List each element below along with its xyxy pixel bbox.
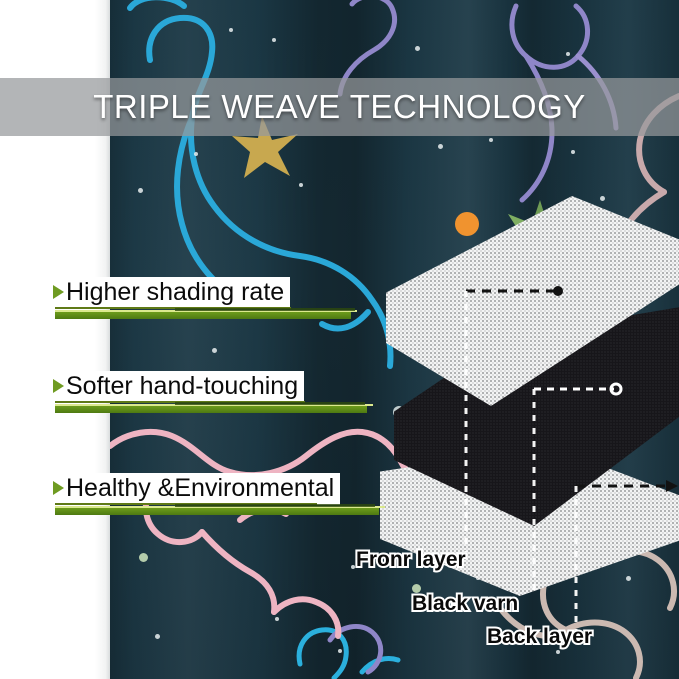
feature-softer-hand-touching: Softer hand-touching <box>50 371 304 403</box>
feature-label-box: Healthy &Environmental <box>50 473 340 505</box>
layer-label-black-varn-text: Black varn <box>412 592 518 615</box>
green-triangle-icon <box>53 481 64 495</box>
header-banner: TRIPLE WEAVE TECHNOLOGY <box>0 78 679 136</box>
layer-label-back-text: Back layer <box>487 625 592 648</box>
feature-healthy-environmental: Healthy &Environmental <box>50 473 340 505</box>
feature-label-box: Softer hand-touching <box>50 371 304 403</box>
layer-label-black-varn: Black varn <box>412 592 518 616</box>
layer-label-front: Fronr layer <box>356 548 466 572</box>
fabric-layer-diagram <box>386 196 679 576</box>
layer-label-front-text: Fronr layer <box>356 548 466 571</box>
green-triangle-icon <box>53 285 64 299</box>
feature-label-text: Healthy &Environmental <box>66 474 334 502</box>
feature-label-text: Higher shading rate <box>66 278 284 306</box>
banner-title: TRIPLE WEAVE TECHNOLOGY <box>93 88 586 126</box>
feature-label-text: Softer hand-touching <box>66 372 298 400</box>
feature-higher-shading-rate: Higher shading rate <box>50 277 290 309</box>
layer-label-back: Back layer <box>487 625 592 649</box>
feature-label-box: Higher shading rate <box>50 277 290 309</box>
green-triangle-icon <box>53 379 64 393</box>
product-feature-image: TRIPLE WEAVE TECHNOLOGY Higher shading r… <box>0 0 679 679</box>
